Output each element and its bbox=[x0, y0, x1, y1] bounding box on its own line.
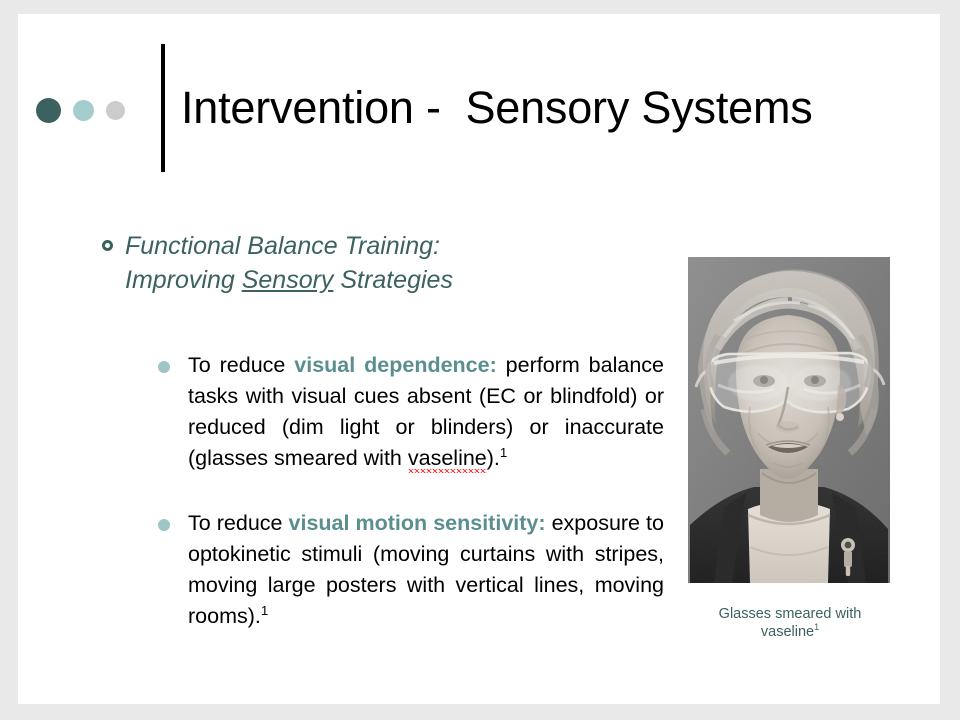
photo-caption-footnote-marker: 1 bbox=[814, 622, 819, 632]
subtitle-line-2-after: Strategies bbox=[333, 266, 453, 294]
slide-title: Intervention - Sensory Systems bbox=[181, 80, 921, 136]
list-item: To reduce visual dependence: perform bal… bbox=[158, 350, 664, 474]
bullet-1-tail: ). bbox=[487, 446, 500, 470]
bullet-2-text: To reduce visual motion sensitivity: exp… bbox=[188, 508, 664, 632]
title-dot-dark-icon bbox=[36, 98, 61, 123]
bullet-1-text: To reduce visual dependence: perform bal… bbox=[188, 350, 664, 474]
title-dot-group bbox=[36, 98, 125, 123]
photo-svg bbox=[688, 257, 890, 583]
list-item: To reduce visual motion sensitivity: exp… bbox=[158, 508, 664, 632]
subtitle-line-1: Functional Balance Training: bbox=[125, 232, 440, 260]
subtitle-text: Functional Balance Training: Improving S… bbox=[125, 229, 453, 297]
title-dot-gray-icon bbox=[106, 101, 125, 120]
photo-caption: Glasses smeared with vaseline1 bbox=[688, 605, 892, 641]
subtitle-line-2-before: Improving bbox=[125, 266, 242, 294]
body-bullet-list: To reduce visual dependence: perform bal… bbox=[158, 350, 664, 632]
hollow-circle-bullet-icon bbox=[102, 240, 113, 251]
teal-dot-bullet-icon bbox=[158, 361, 170, 373]
bullet-1-lead: visual dependence: bbox=[294, 353, 496, 377]
bullet-1-prefix: To reduce bbox=[188, 353, 294, 377]
bullet-2-lead: visual motion sensitivity: bbox=[289, 511, 546, 535]
photo-elderly-woman-glasses bbox=[688, 257, 890, 583]
title-vertical-rule bbox=[161, 44, 165, 172]
photo-caption-text: Glasses smeared with vaseline bbox=[719, 606, 862, 640]
slide-canvas: Intervention - Sensory Systems Functiona… bbox=[18, 14, 940, 704]
subtitle-emphasis-sensory: Sensory bbox=[242, 266, 334, 294]
photo-block: Glasses smeared with vaseline1 bbox=[688, 257, 892, 641]
bullet-1-misspelled-word: vaseline bbox=[408, 446, 487, 473]
bullet-2-footnote-marker: 1 bbox=[261, 603, 268, 618]
slide-root: Intervention - Sensory Systems Functiona… bbox=[0, 0, 960, 720]
subtitle-block: Functional Balance Training: Improving S… bbox=[102, 229, 622, 297]
title-dot-teal-icon bbox=[73, 100, 94, 121]
bullet-2-prefix: To reduce bbox=[188, 511, 289, 535]
bullet-1-footnote-marker: 1 bbox=[500, 445, 507, 460]
teal-dot-bullet-icon bbox=[158, 519, 170, 531]
